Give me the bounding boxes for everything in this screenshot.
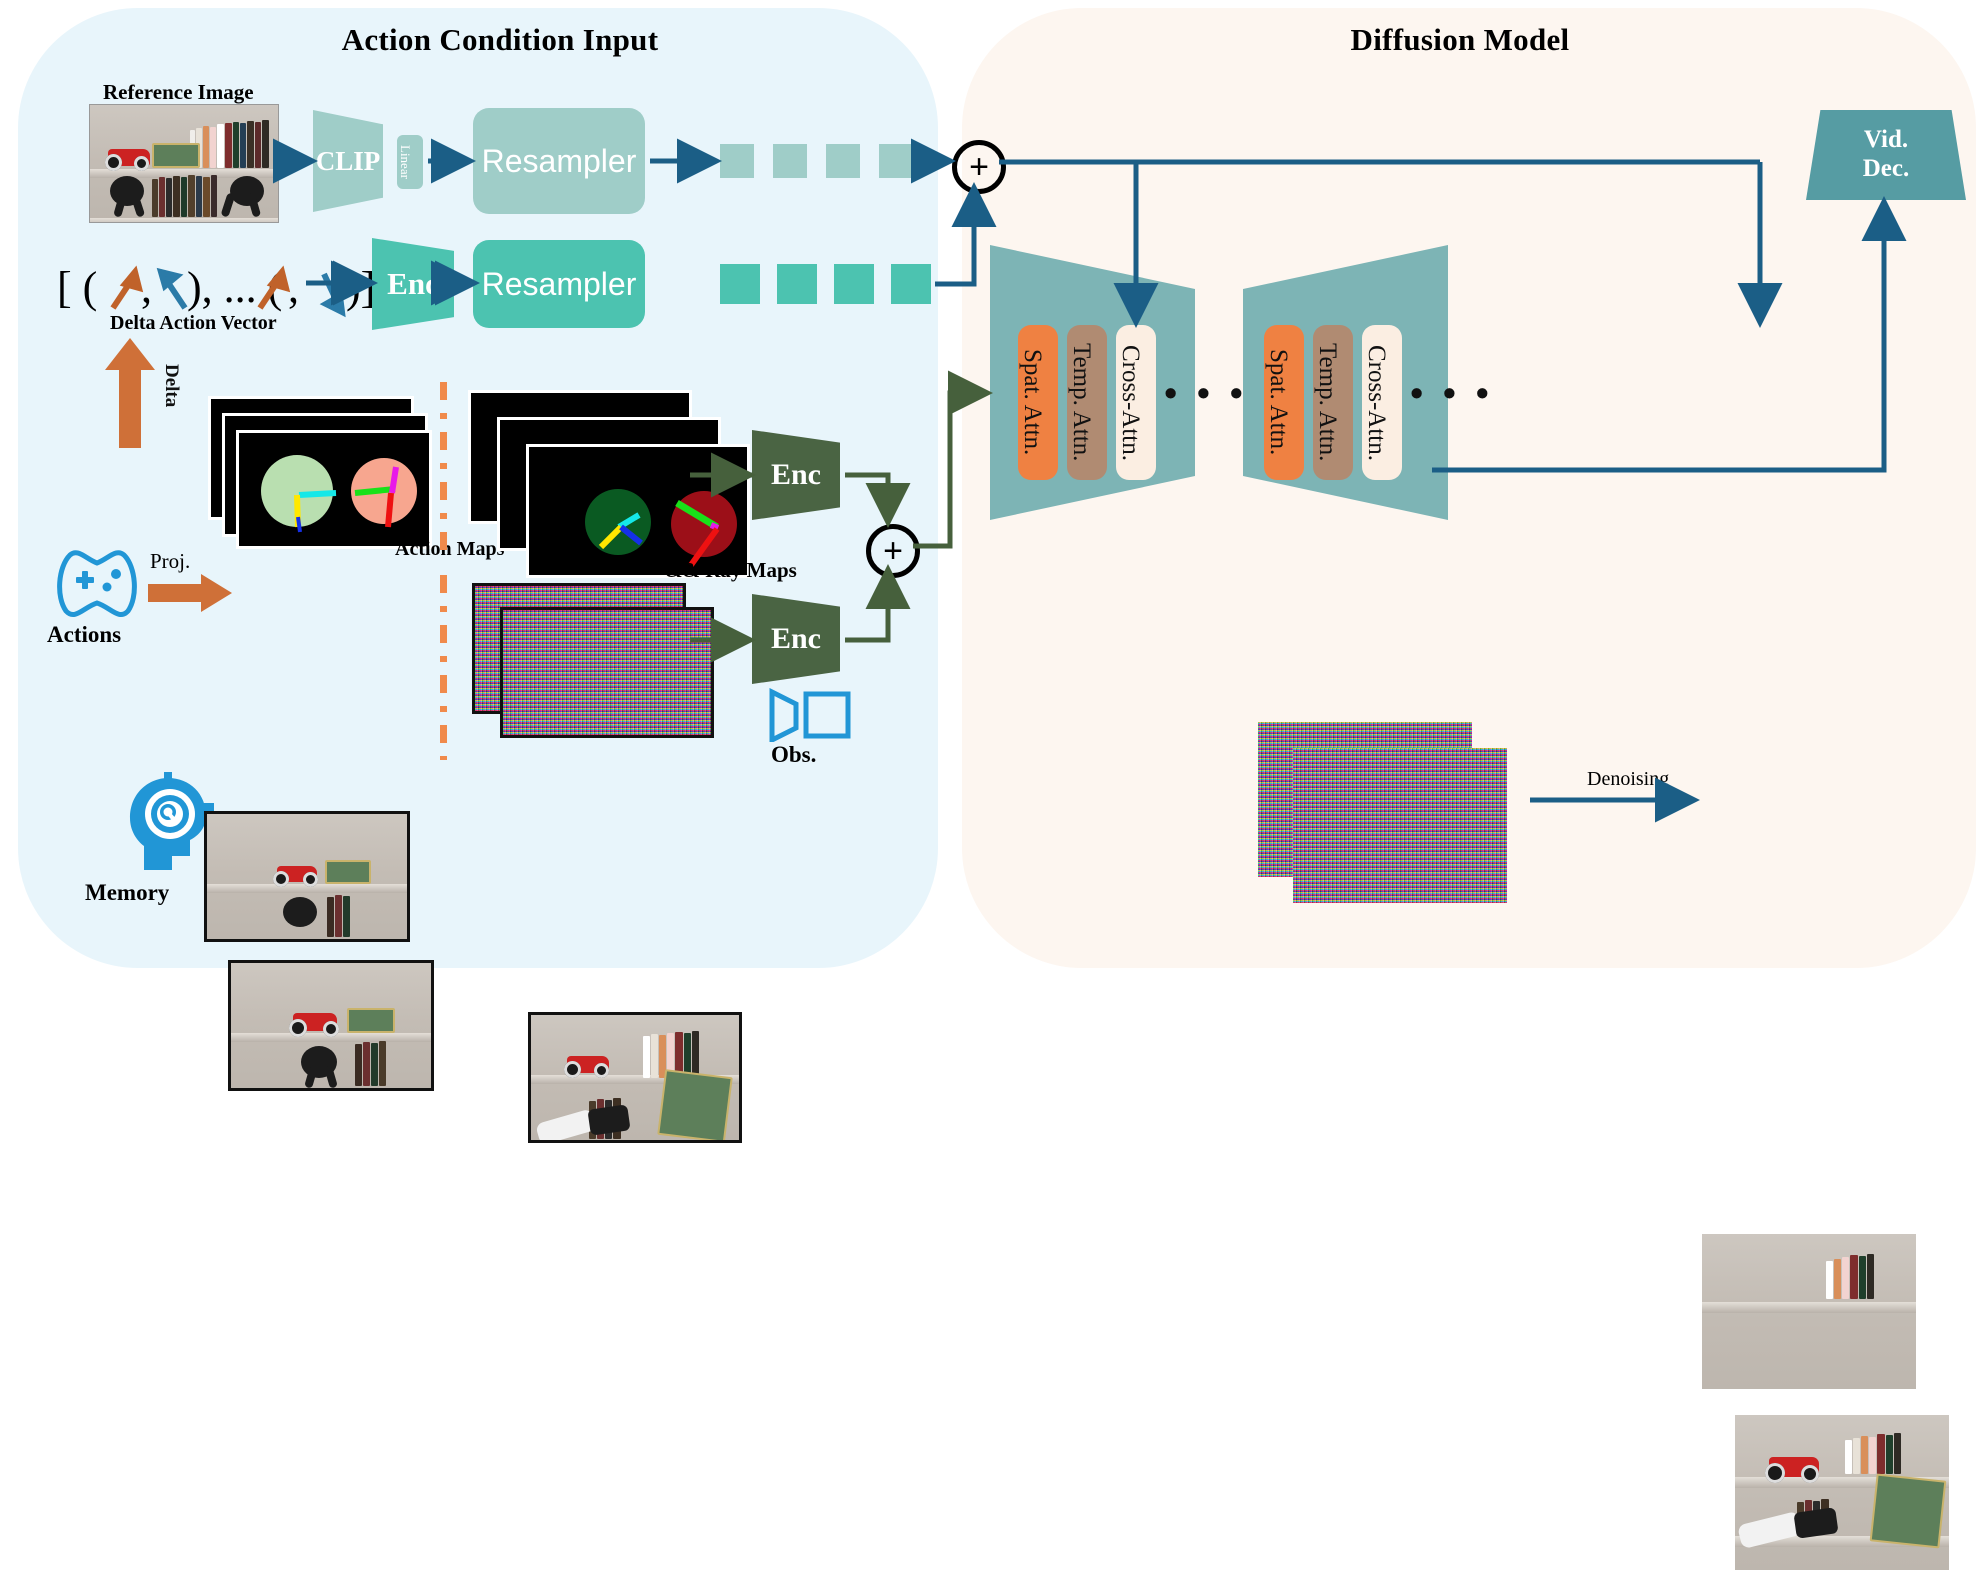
divider-dashed-upper — [440, 382, 447, 557]
reference-image-label: Reference Image — [103, 80, 254, 105]
image-token-1 — [720, 144, 754, 178]
memory-frame-2 — [204, 811, 410, 942]
raymap-encoder-block: Enc — [752, 430, 840, 520]
spatial-attn-block-1: Spat. Attn. — [1018, 325, 1058, 480]
svg-text:,: , — [288, 263, 299, 312]
linear-label: Linear — [397, 135, 413, 189]
denoise-output-frame-2 — [1702, 1234, 1916, 1389]
action-token-3 — [834, 264, 874, 304]
image-token-3 — [826, 144, 860, 178]
clip-label: CLIP — [313, 110, 383, 212]
image-token-4 — [879, 144, 913, 178]
memory-icon — [110, 770, 215, 875]
obs-label: Obs. — [771, 742, 816, 768]
enc-obs-label: Enc — [752, 594, 840, 684]
svg-text:)]: )] — [346, 263, 375, 312]
denoise-input-frame-1 — [1293, 748, 1507, 903]
denoise-output-frame-1 — [1735, 1415, 1949, 1570]
reference-image — [89, 104, 279, 223]
video-decoder-block: Vid. Dec. — [1806, 110, 1966, 200]
temporal-attn-block-2: Temp. Attn. — [1313, 325, 1353, 480]
cross-attn-block-2: Cross-Attn. — [1362, 325, 1402, 480]
ellipsis-block-1: • • • — [1164, 372, 1248, 416]
delta-arrow-label: Delta — [160, 344, 182, 428]
panel-title-action-condition: Action Condition Input — [290, 22, 710, 58]
obs-encoder-block: Enc — [752, 594, 840, 684]
image-token-2 — [773, 144, 807, 178]
camera-icon — [766, 688, 852, 742]
svg-text:[ (: [ ( — [57, 263, 97, 312]
resampler-action-block: Resampler — [473, 240, 645, 328]
enc-raymap-label: Enc — [752, 430, 840, 520]
proj-arrow-icon — [148, 572, 233, 614]
panel-title-diffusion-model: Diffusion Model — [1250, 22, 1670, 58]
enc-action-label: Enc — [372, 238, 454, 330]
ellipsis-block-2: • • • — [1410, 372, 1494, 416]
temporal-attn-block-1: Temp. Attn. — [1067, 325, 1107, 480]
video-decoder-label-2: Dec. — [1863, 155, 1910, 184]
action-token-4 — [891, 264, 931, 304]
action-map-frame-1 — [236, 430, 432, 549]
delta-action-vector-label: Delta Action Vector — [110, 312, 277, 335]
action-encoder-block: Enc — [372, 238, 454, 330]
proj-label: Proj. — [150, 549, 190, 574]
clip-encoder-block: CLIP — [313, 110, 383, 212]
linear-block: Linear — [397, 135, 423, 189]
plus-junction-condition: + — [952, 140, 1006, 194]
obs-noisy-frame-2 — [500, 607, 714, 738]
action-maps-label: Action Maps — [395, 538, 504, 561]
resampler-image-block: Resampler — [473, 108, 645, 214]
denoising-label: Denoising — [1587, 768, 1669, 791]
action-token-2 — [777, 264, 817, 304]
ray-maps-label: && Ray Maps — [665, 558, 797, 583]
gamepad-icon — [50, 545, 145, 620]
delta-arrow-icon — [103, 338, 163, 448]
action-token-1 — [720, 264, 760, 304]
video-decoder-label-1: Vid. — [1864, 126, 1908, 155]
actions-label: Actions — [47, 622, 121, 648]
obs-frame-1 — [528, 1012, 742, 1143]
memory-label: Memory — [85, 880, 169, 906]
cross-attn-block-1: Cross-Attn. — [1116, 325, 1156, 480]
plus-junction-latent: + — [866, 524, 920, 578]
spatial-attn-block-2: Spat. Attn. — [1264, 325, 1304, 480]
divider-dashed-lower — [440, 575, 447, 760]
svg-text:,: , — [141, 263, 152, 312]
